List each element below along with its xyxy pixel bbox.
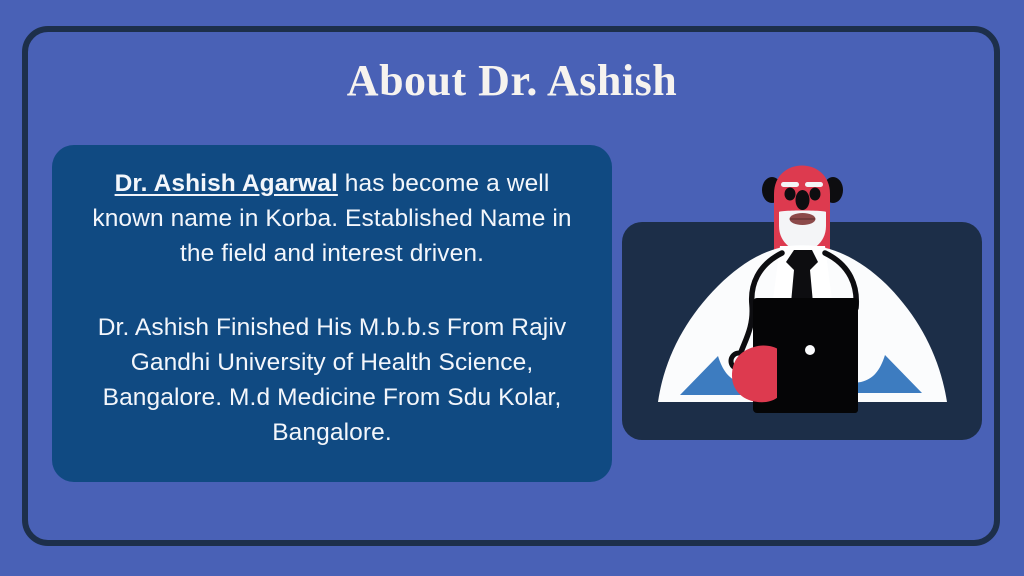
doctor-body-group — [658, 245, 947, 413]
eye-left-icon — [785, 188, 796, 201]
slide-root: About Dr. Ashish Dr. Ashish Agarwal has … — [0, 0, 1024, 576]
clipboard-clip-dot-front-icon — [805, 345, 815, 355]
about-paragraph-2: Dr. Ashish Finished His M.b.b.s From Raj… — [78, 311, 586, 450]
clipboard-front-edge — [777, 298, 858, 413]
nose-icon — [796, 190, 810, 210]
eyebrow-right-icon — [805, 182, 823, 187]
about-paragraph-1: Dr. Ashish Agarwal has become a well kno… — [78, 167, 586, 271]
doctor-illustration — [622, 150, 982, 440]
page-title: About Dr. Ashish — [0, 57, 1024, 105]
about-text-panel: Dr. Ashish Agarwal has become a well kno… — [52, 145, 612, 482]
doctor-name-highlight: Dr. Ashish Agarwal — [115, 170, 338, 197]
eye-right-icon — [810, 188, 821, 201]
paragraph-spacer — [78, 271, 586, 311]
eyebrow-left-icon — [781, 182, 799, 187]
